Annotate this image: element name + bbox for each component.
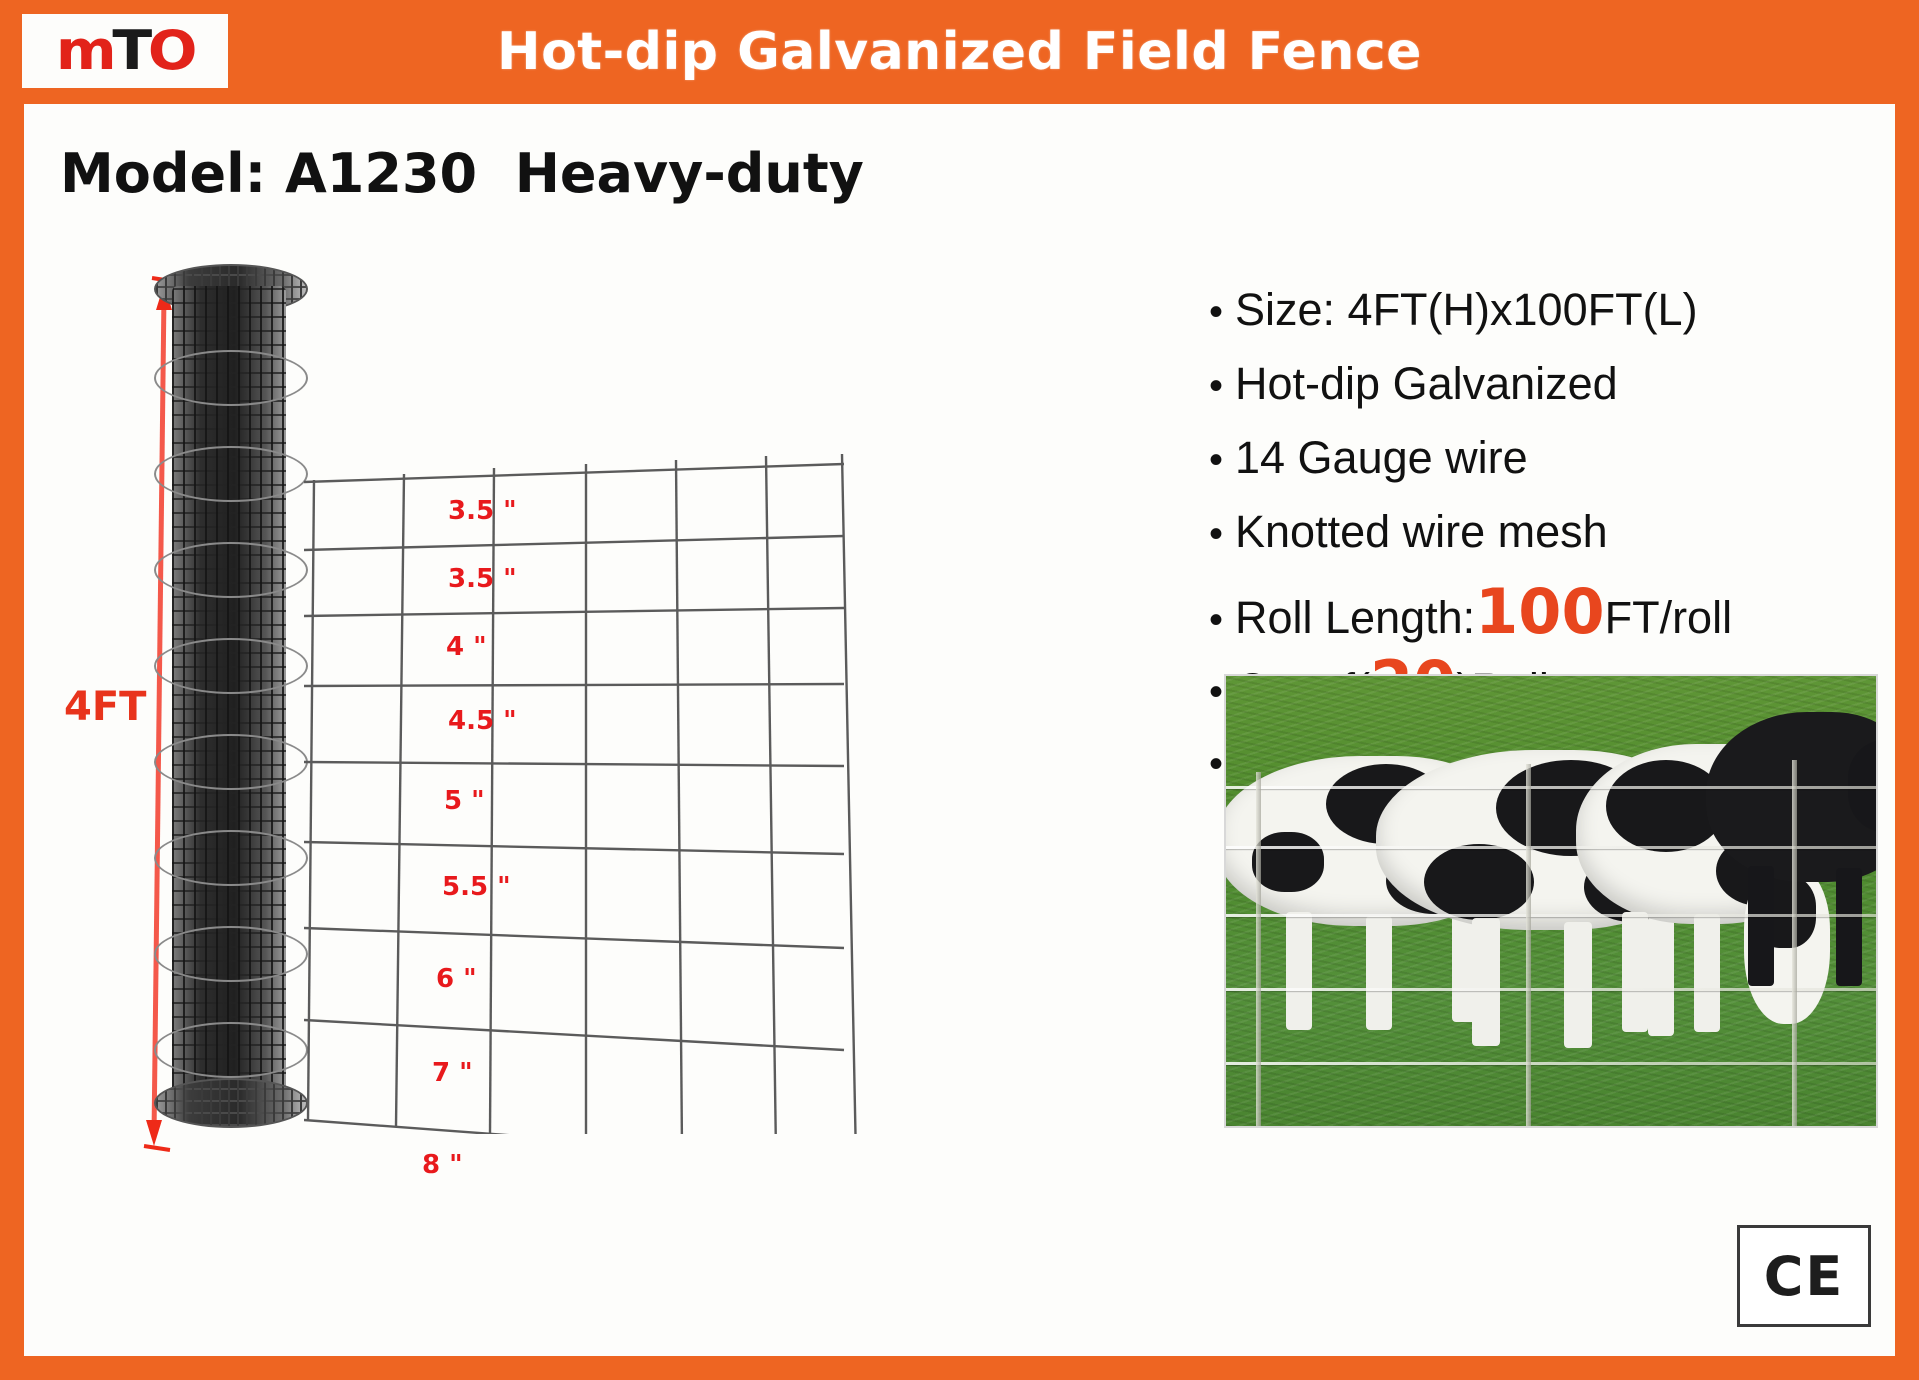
content-card: Model: A1230 Heavy-duty 4FT <box>24 104 1895 1356</box>
bullet-icon: • <box>1209 366 1235 406</box>
spec-item-coating: • Hot-dip Galvanized <box>1209 358 1869 410</box>
mesh-spacing-label-8: 7 " <box>432 1058 473 1088</box>
mesh-spacing-label-6: 5.5 " <box>442 872 511 902</box>
spec-roll-length-value: 100 <box>1475 584 1604 640</box>
page-title-text: Hot-dip Galvanized Field Fence <box>497 22 1422 82</box>
fence-wire-1 <box>1224 786 1878 789</box>
product-spec-page: Hot-dip Galvanized Field Fence mTO Model… <box>0 0 1919 1380</box>
fence-wire-3 <box>1224 914 1878 917</box>
fence-post-3 <box>1792 760 1797 1128</box>
logo-letter-o: O <box>148 19 193 82</box>
logo-letter-m: m <box>56 19 112 82</box>
spec-item-coating-text: Hot-dip Galvanized <box>1235 358 1618 410</box>
brand-logo: mTO <box>22 14 228 88</box>
fence-wire-5 <box>1224 1062 1878 1065</box>
mesh-spacing-label-7: 6 " <box>436 964 477 994</box>
cow-4 <box>1696 696 1878 916</box>
spec-item-mesh: • Knotted wire mesh <box>1209 506 1869 558</box>
header-bar: Hot-dip Galvanized Field Fence mTO <box>0 0 1919 104</box>
logo-letter-t: T <box>113 19 148 82</box>
mesh-spacing-label-4: 4.5 " <box>448 706 517 736</box>
height-dimension-label: 4FT <box>64 684 146 730</box>
bullet-icon: • <box>1209 600 1235 640</box>
bullet-icon: • <box>1209 440 1235 480</box>
spec-roll-length-post: FT/roll <box>1605 592 1733 644</box>
mesh-spacing-label-1: 3.5 " <box>448 496 517 526</box>
ce-mark-text: CE <box>1764 1245 1845 1308</box>
fence-post-2 <box>1526 764 1531 1128</box>
fence-diagram: 4FT <box>54 254 984 1254</box>
fence-wire-4 <box>1224 988 1878 991</box>
fence-post-1 <box>1256 772 1261 1128</box>
mesh-spacing-label-2: 3.5 " <box>448 564 517 594</box>
fence-wire-2 <box>1224 846 1878 849</box>
bullet-icon: • <box>1209 514 1235 554</box>
bullet-icon: • <box>1209 292 1235 332</box>
mesh-spacing-label-3: 4 " <box>446 632 487 662</box>
page-title: Hot-dip Galvanized Field Fence <box>0 0 1919 104</box>
spec-roll-length-pre: Roll Length: <box>1235 592 1475 644</box>
wire-roll-image <box>154 264 304 1124</box>
brand-logo-text: mTO <box>56 24 193 78</box>
spec-item-gauge: • 14 Gauge wire <box>1209 432 1869 484</box>
mesh-grid-diagram: 3.5 " 3.5 " 4 " 4.5 " 5 " 5.5 " 6 " 7 " … <box>304 364 944 1134</box>
mesh-spacing-label-5: 5 " <box>444 786 485 816</box>
spec-item-size: • Size: 4FT(H)x100FT(L) <box>1209 284 1869 336</box>
mesh-grid-svg <box>304 364 944 1134</box>
mesh-spacing-label-9: 8 " <box>422 1150 463 1180</box>
model-heading: Model: A1230 Heavy-duty <box>60 142 864 205</box>
spec-item-size-text: Size: 4FT(H)x100FT(L) <box>1235 284 1698 336</box>
spec-item-gauge-text: 14 Gauge wire <box>1235 432 1528 484</box>
spec-item-mesh-text: Knotted wire mesh <box>1235 506 1608 558</box>
application-photo <box>1224 674 1878 1128</box>
spec-item-roll-length: • Roll Length: 100 FT/roll <box>1209 584 1869 644</box>
ce-mark-badge: CE <box>1737 1225 1871 1327</box>
